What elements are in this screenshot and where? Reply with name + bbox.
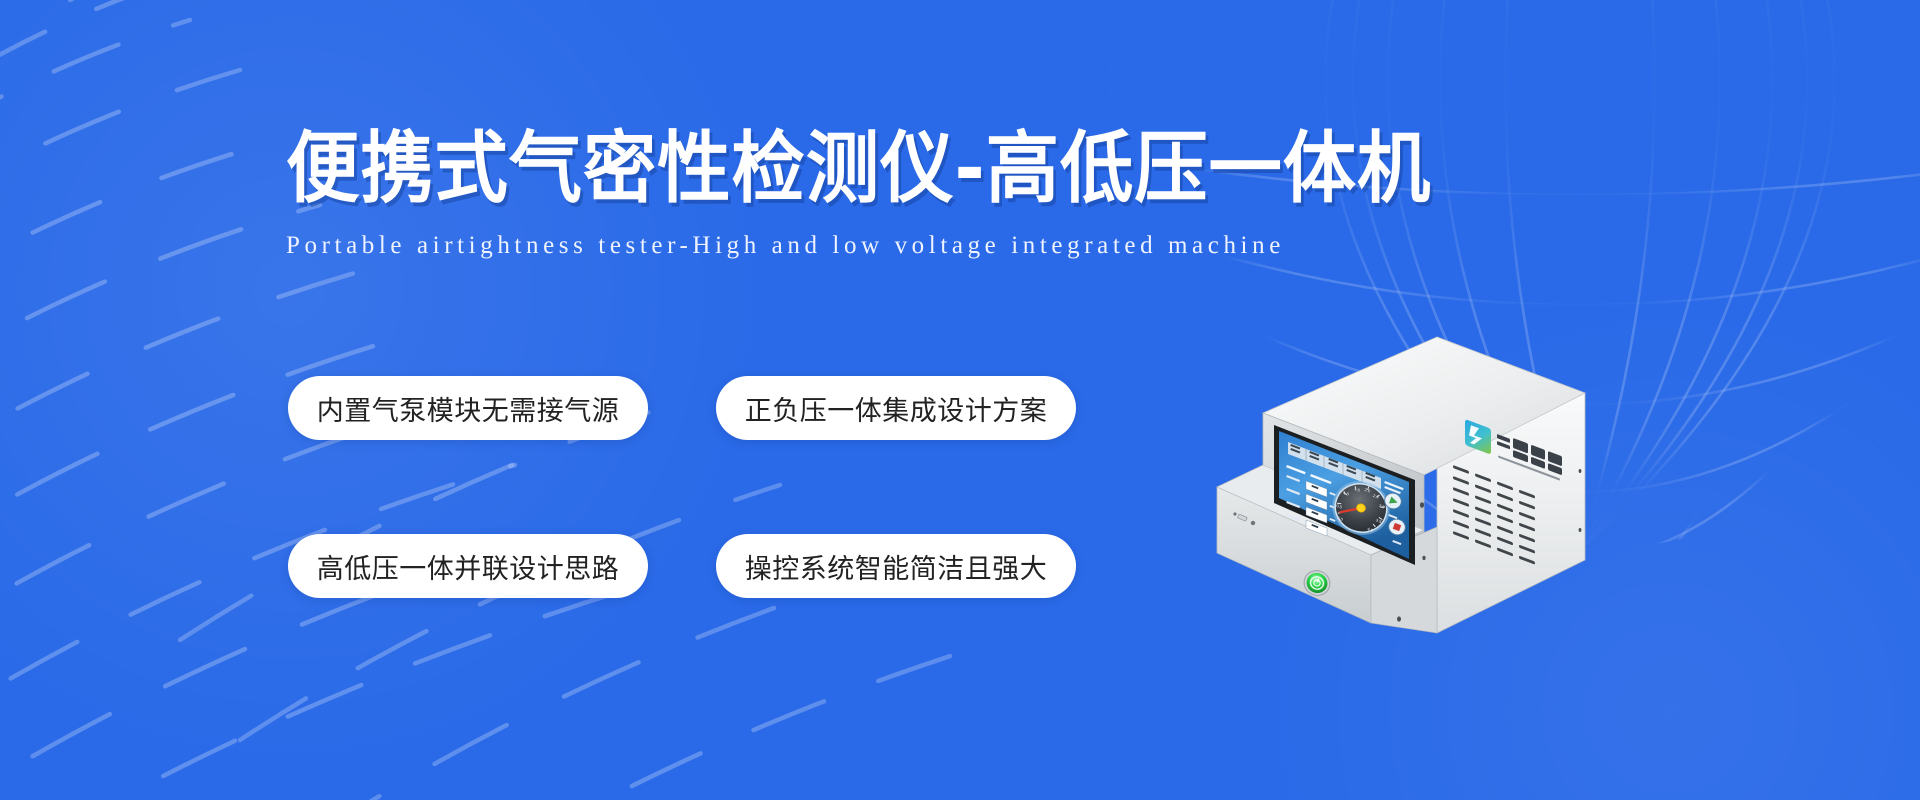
feature-pill-label: 正负压一体集成设计方案 — [745, 389, 1048, 428]
page-subtitle: Portable airtightness tester-High and lo… — [286, 230, 1346, 262]
feature-pill-label: 操控系统智能简洁且强大 — [745, 547, 1048, 586]
product-image: 0.0 0.5 1.0 1.5 2.0 2.5 3.0 3.5 4.0 — [1175, 315, 1605, 645]
airtightness-tester-illustration: 0.0 0.5 1.0 1.5 2.0 2.5 3.0 3.5 4.0 — [1175, 315, 1605, 645]
feature-pill[interactable]: 高低压一体并联设计思路 — [288, 534, 648, 598]
feature-pill-list: 内置气泵模块无需接气源 正负压一体集成设计方案 高低压一体并联设计思路 操控系统… — [288, 376, 1076, 598]
feature-pill-label: 高低压一体并联设计思路 — [317, 547, 620, 586]
feature-pill[interactable]: 正负压一体集成设计方案 — [716, 376, 1076, 440]
feature-pill[interactable]: 操控系统智能简洁且强大 — [716, 534, 1076, 598]
feature-pill[interactable]: 内置气泵模块无需接气源 — [288, 376, 648, 440]
page-title: 便携式气密性检测仪-高低压一体机 — [286, 126, 1282, 212]
title-block: 便携式气密性检测仪-高低压一体机 Portable airtightness t… — [286, 126, 1346, 262]
feature-pill-label: 内置气泵模块无需接气源 — [317, 389, 620, 428]
product-banner: 便携式气密性检测仪-高低压一体机 Portable airtightness t… — [0, 0, 1920, 800]
banner-content: 便携式气密性检测仪-高低压一体机 Portable airtightness t… — [0, 0, 1920, 800]
